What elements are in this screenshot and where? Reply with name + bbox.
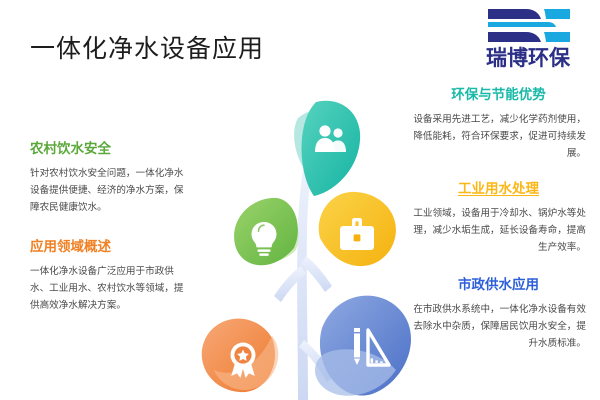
block-industry-body: 工业领域，设备用于冷却水、锅炉水等处理，减少水垢生成，延长设备寿命，提高生产效率…: [411, 205, 586, 256]
leaf-teal: [294, 101, 360, 196]
block-scope-body: 一体化净水设备广泛应用于市政供水、工业用水、农村饮水等领域，提供高效净水解决方案…: [30, 263, 190, 314]
page-title: 一体化净水设备应用: [30, 34, 264, 64]
tree-trunk: [274, 154, 334, 400]
block-scope-heading: 应用领域概述: [30, 238, 190, 256]
logo-text: 瑞博环保: [486, 47, 570, 69]
block-eco-energy-advantage: 环保与节能优势 设备采用先进工艺，减少化学药剂使用，降低能耗，符合环保要求，促进…: [411, 86, 586, 162]
leaf-tree-illustration: [198, 78, 422, 400]
award-medal-icon: [231, 343, 256, 379]
leaf-amber: [319, 192, 396, 266]
block-municipal-water-supply: 市政供水应用 在市政供水系统中，一体化净水设备有效去除水中杂质，保障居民饮用水安…: [411, 276, 586, 352]
lightbulb-icon: [252, 222, 277, 256]
block-application-scope: 应用领域概述 一体化净水设备广泛应用于市政供水、工业用水、农村饮水等领域，提供高…: [30, 238, 190, 314]
leaf-orange: [202, 319, 279, 392]
leaf-blue: [315, 296, 411, 396]
block-rural-body: 针对农村饮水安全问题，一体化净水设备提供便捷、经济的净水方案，保障农民健康饮水。: [30, 165, 190, 216]
block-rural-water-safety: 农村饮水安全 针对农村饮水安全问题，一体化净水设备提供便捷、经济的净水方案，保障…: [30, 140, 190, 216]
company-logo: 瑞博环保: [468, 8, 588, 74]
block-industry-heading: 工业用水处理: [411, 180, 586, 198]
slide-canvas: 瑞博环保 一体化净水设备应用: [0, 0, 600, 400]
block-industrial-water-treatment: 工业用水处理 工业领域，设备用于冷却水、锅炉水等处理，减少水垢生成，延长设备寿命…: [411, 180, 586, 256]
block-municipal-body: 在市政供水系统中，一体化净水设备有效去除水中杂质，保障居民饮用水安全，提升水质标…: [411, 301, 586, 352]
block-rural-heading: 农村饮水安全: [30, 140, 190, 158]
block-eco-heading: 环保与节能优势: [411, 86, 586, 104]
leaf-green: [234, 198, 298, 265]
block-eco-body: 设备采用先进工艺，减少化学药剂使用，降低能耗，符合环保要求，促进可持续发展。: [411, 111, 586, 162]
pencil-ruler-icon: [354, 328, 389, 365]
briefcase-icon: [340, 218, 374, 250]
block-municipal-heading: 市政供水应用: [411, 276, 586, 294]
logo-mark-icon: [482, 8, 574, 46]
people-icon: [315, 125, 346, 152]
